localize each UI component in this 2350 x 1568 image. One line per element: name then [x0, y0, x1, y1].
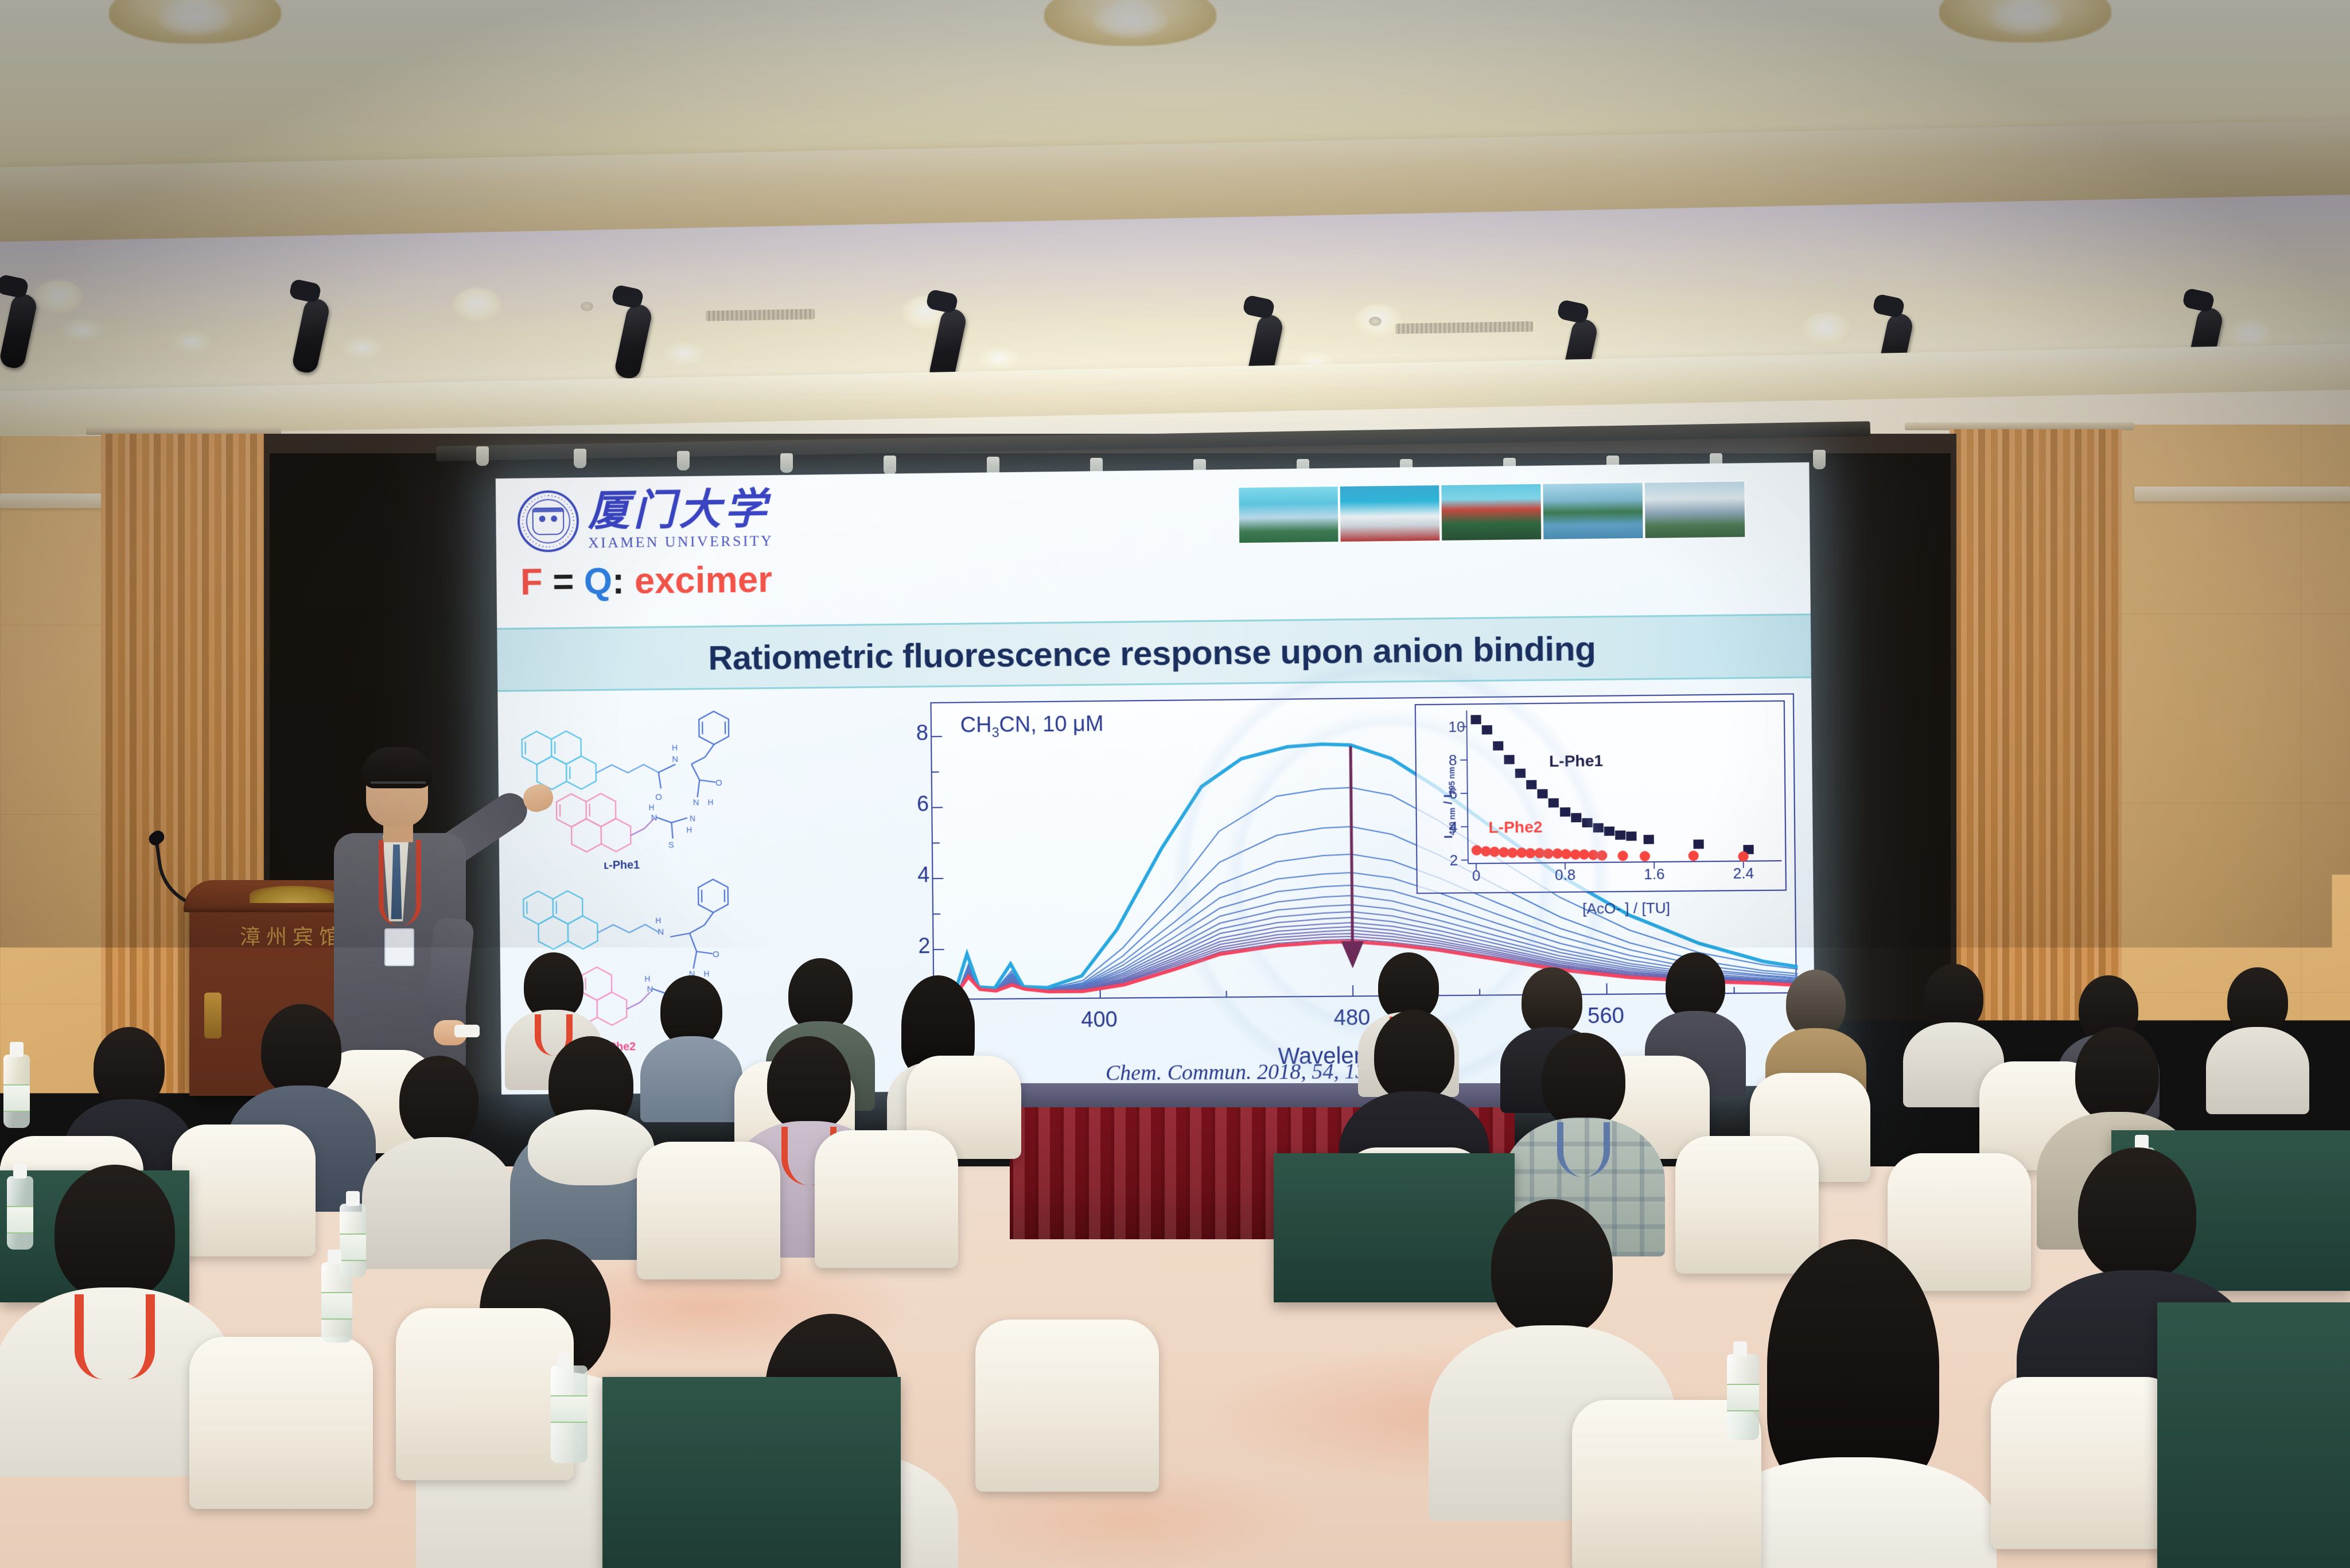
mol1-label: ʟ-Phe1	[604, 859, 640, 872]
audience-member	[2215, 967, 2301, 1099]
smoke-detector-icon	[1369, 317, 1382, 326]
audience-member	[23, 1165, 207, 1452]
head	[1786, 970, 1846, 1037]
svg-text:O: O	[655, 792, 662, 802]
spotlight-glow	[62, 319, 102, 342]
podium-emblem-icon	[204, 993, 221, 1038]
conference-chair	[189, 1337, 373, 1509]
svg-text:S: S	[668, 841, 674, 850]
lanyard	[75, 1294, 155, 1379]
audience-member	[379, 1056, 499, 1245]
campus-photo-strip	[1238, 480, 1746, 544]
head	[1374, 1010, 1454, 1102]
lanyard	[1557, 1122, 1610, 1177]
university-name-cn: 厦门大学	[587, 488, 773, 532]
hair-long	[1767, 1239, 1939, 1492]
truss-light-icon	[677, 451, 690, 470]
hood	[528, 1110, 654, 1185]
inset-x-axis-label: [AcO- ] / [TU]	[1468, 898, 1786, 919]
svg-text:H: H	[672, 743, 678, 752]
y-tick-8: 8	[916, 721, 928, 745]
inset-scatter-svg	[1416, 702, 1788, 895]
conference-table	[602, 1377, 901, 1568]
spotlight-glow	[342, 336, 382, 359]
spotlight-glow	[664, 342, 705, 365]
head	[1542, 1033, 1625, 1128]
audience-member	[1738, 1239, 1968, 1568]
slide-header: 厦门大学 XIAMEN UNIVERSITY F = Q: excimer	[496, 462, 1811, 621]
ceiling-downlight	[1802, 312, 1850, 345]
subheader-colon: :	[612, 561, 625, 602]
campus-photo	[1340, 485, 1440, 542]
conference-chair	[1991, 1377, 2180, 1549]
water-bottle	[3, 1055, 30, 1128]
head	[94, 1027, 165, 1108]
ceiling-downlight	[453, 288, 501, 321]
torso	[640, 1036, 742, 1122]
svg-text:H: H	[648, 803, 654, 812]
water-bottle	[551, 1365, 587, 1463]
smoke-detector-icon	[581, 302, 593, 311]
y-tick-6: 6	[917, 792, 929, 816]
svg-text:H: H	[655, 916, 661, 925]
conference-chair	[975, 1320, 1159, 1492]
y-tick-4: 4	[917, 863, 929, 888]
audience-member	[528, 1036, 654, 1231]
subheader-word: excimer	[634, 559, 772, 601]
slide-title: Ratiometric fluorescence response upon a…	[708, 628, 1596, 678]
head	[2078, 1147, 2196, 1281]
ceiling-downlight	[34, 280, 83, 313]
campus-photo	[1239, 487, 1338, 543]
head	[1522, 967, 1582, 1036]
slide-citation: Chem. Commun. 2018, 54, 1313	[1106, 1059, 1388, 1085]
spotlight-glow	[172, 330, 212, 353]
svg-text:H: H	[686, 825, 692, 834]
presenter-name-badge	[384, 928, 414, 966]
slide-subheader: F = Q: excimer	[520, 561, 772, 601]
head	[399, 1056, 478, 1146]
presenter-lanyard	[379, 840, 421, 926]
series-l-phe2-points	[1472, 843, 1749, 864]
campus-photo	[1645, 481, 1745, 538]
pyrene-pink-1	[557, 793, 631, 853]
presentation-clicker	[454, 1025, 480, 1037]
spotlight-glow	[979, 347, 1019, 369]
svg-text:O: O	[715, 778, 722, 788]
conference-table	[2157, 1302, 2350, 1568]
conference-chair	[815, 1130, 958, 1268]
inset-legend-l-phe1: L-Phe1	[1549, 752, 1603, 771]
slide-title-band: Ratiometric fluorescence response upon a…	[497, 613, 1811, 692]
svg-text:N: N	[657, 927, 664, 937]
xiamen-university-logo: 厦门大学 XIAMEN UNIVERSITY	[518, 488, 774, 553]
conference-table	[1308, 1279, 1555, 1452]
truss-light-icon	[476, 446, 489, 466]
conference-chair	[396, 1308, 574, 1480]
head	[261, 1004, 341, 1096]
svg-text:N: N	[693, 797, 699, 807]
head	[788, 958, 853, 1032]
ceiling-air-vent	[706, 309, 815, 321]
head	[2227, 967, 2288, 1036]
campus-photo	[1441, 484, 1541, 540]
torso	[2206, 1027, 2309, 1114]
right-wall-light-strip	[2134, 487, 2350, 501]
pyrene-blue-2	[523, 890, 598, 950]
conference-hall-scene: 厦门大学 XIAMEN UNIVERSITY F = Q: excimer Ra…	[0, 0, 2350, 1568]
conference-chair	[637, 1142, 780, 1279]
head	[1666, 952, 1725, 1020]
subheader-equals: =	[553, 561, 574, 602]
x-tick-400: 400	[1081, 1007, 1118, 1032]
truss-light-icon	[780, 453, 793, 473]
water-bottle	[321, 1262, 352, 1343]
truss-light-icon	[1813, 450, 1826, 469]
subheader-f: F	[520, 561, 543, 602]
head	[1924, 964, 1983, 1032]
pyrene-blue-1	[522, 731, 597, 790]
truss-light-icon	[884, 456, 896, 475]
svg-text:N: N	[690, 814, 695, 823]
svg-text:O: O	[713, 950, 719, 959]
audience-member	[1911, 964, 1997, 1090]
inset-ratio-chart: I480 nm / I395 nm 10 8 6 4 2 0 0.8 1.6 2…	[1415, 701, 1787, 894]
svg-text:N: N	[672, 754, 678, 764]
water-bottle	[1727, 1354, 1759, 1440]
inset-legend-l-phe2: L-Phe2	[1488, 818, 1542, 837]
truss-light-icon	[574, 449, 586, 468]
subheader-q: Q	[583, 561, 612, 602]
campus-photo	[1543, 483, 1643, 539]
audience-member	[648, 975, 734, 1102]
head	[55, 1165, 175, 1300]
audience-member	[1520, 1033, 1647, 1228]
head	[767, 1036, 851, 1131]
head	[2075, 1027, 2159, 1122]
university-name-en: XIAMEN UNIVERSITY	[588, 532, 773, 552]
presenter-glasses	[371, 781, 426, 794]
university-seal-icon	[518, 490, 579, 553]
y-tick-2: 2	[918, 934, 930, 959]
svg-text:H: H	[707, 797, 713, 807]
